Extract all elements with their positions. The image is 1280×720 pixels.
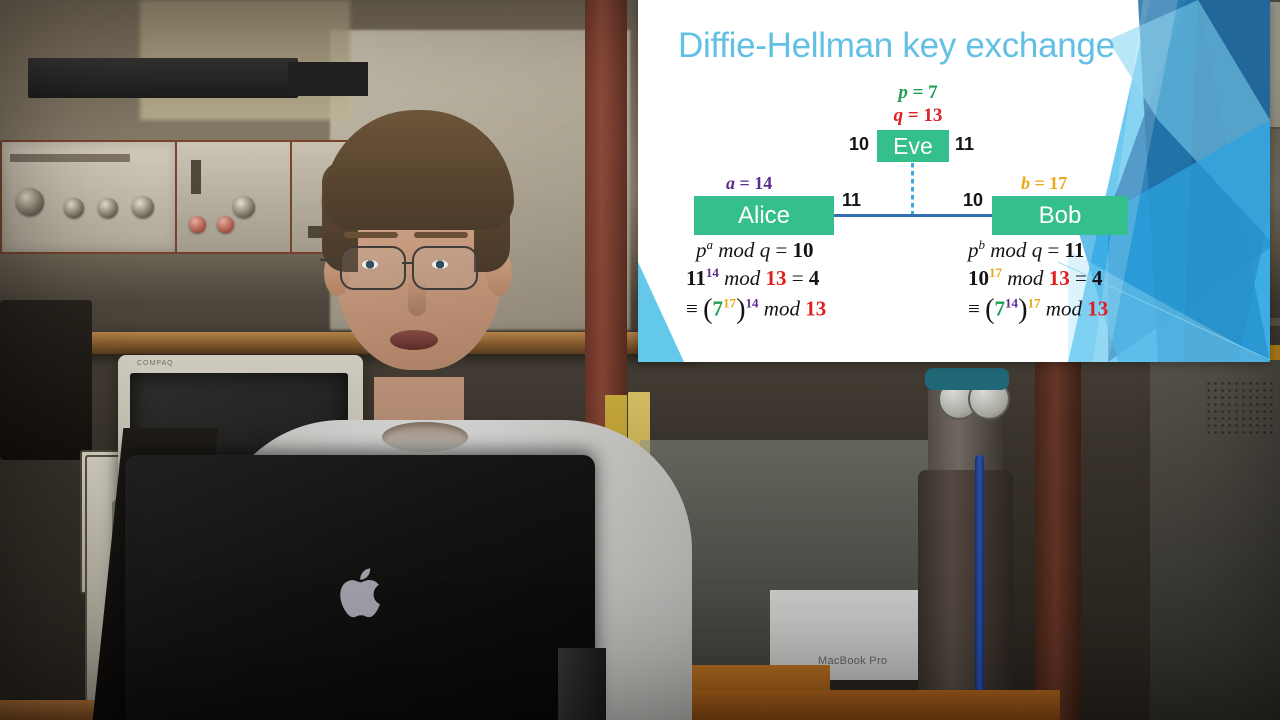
alice-f2-result: 4 [809, 266, 820, 290]
bob-f1-q: q [1032, 238, 1043, 262]
private-key-b: b = 17 [1021, 173, 1067, 194]
private-key-a: a = 14 [726, 173, 772, 194]
parameter-p-symbol: p [898, 82, 908, 103]
bob-f2-eq: = [1075, 266, 1087, 290]
presentation-slide-overlay: Diffie-Hellman key exchange p = 7 q = 13… [638, 0, 1270, 362]
video-frame: COMPAQ MacBook Pro [0, 0, 1280, 720]
private-key-a-equals: = [740, 173, 750, 193]
bob-formula-line-3: ≡ (714)17 mod 13 [968, 294, 1108, 326]
cabinet-post-right [1035, 360, 1081, 720]
alice-formula-line-2: 1114 mod 13 = 4 [686, 266, 819, 291]
blue-hose [975, 455, 984, 720]
bob-f2-base: 10 [968, 266, 989, 290]
speaker-grille [1205, 380, 1275, 435]
alice-f2-modulus: 13 [766, 266, 787, 290]
alice-f3-inner-exp: 17 [723, 296, 736, 311]
private-key-b-value: 17 [1049, 173, 1067, 193]
gas-cylinder [918, 470, 1013, 720]
alice-f2-eq: = [792, 266, 804, 290]
bob-f2-result: 4 [1092, 266, 1103, 290]
workbench-edge [640, 690, 1060, 720]
alice-formula-line-3: ≡ (717)14 mod 13 [686, 294, 826, 326]
alice-f3-outer-exp: 14 [746, 296, 759, 311]
private-key-a-value: 14 [754, 173, 772, 193]
eyebrow-left [344, 232, 398, 238]
eve-left-number: 10 [849, 134, 869, 155]
shirt-collar [382, 422, 468, 452]
private-key-b-symbol: b [1021, 173, 1030, 193]
alice-f3-modulus: 13 [805, 297, 826, 321]
eye-right [432, 260, 448, 269]
alice-f3-inner-base: 7 [713, 297, 724, 321]
bob-f1-eq: = [1047, 238, 1059, 262]
alice-f1-exp: a [707, 237, 714, 252]
bob-formula-line-1: pb mod q = 11 [968, 238, 1084, 263]
alice-f1-eq: = [775, 238, 787, 262]
bob-f2-exp: 17 [989, 265, 1002, 280]
eve-right-number: 11 [955, 134, 974, 155]
eyeglass-bridge [402, 262, 414, 264]
parameter-q-value: 13 [923, 105, 942, 126]
monitor-brand-label: COMPAQ [137, 360, 174, 367]
parameter-p-value: 7 [928, 82, 938, 103]
black-equipment-box-2 [288, 62, 368, 96]
lab-instrument-left [0, 140, 179, 254]
bob-f3-inner-base: 7 [995, 297, 1006, 321]
bob-f3-inner-exp: 14 [1005, 296, 1018, 311]
alice-f1-base: p [696, 238, 707, 262]
bob-f1-base: p [968, 238, 979, 262]
bob-formula-line-2: 1017 mod 13 = 4 [968, 266, 1103, 291]
apple-logo-icon [340, 565, 388, 621]
alice-f1-q: q [760, 238, 771, 262]
eve-intercept-dotted-line [911, 163, 914, 215]
alice-bob-channel [834, 214, 992, 217]
dark-equipment-mass [0, 300, 92, 460]
alice-f2-exp: 14 [706, 265, 719, 280]
hair [324, 110, 514, 230]
parameter-q: q = 13 [853, 105, 983, 127]
macbook-edge [558, 648, 606, 720]
slide-title: Diffie-Hellman key exchange [678, 28, 1115, 63]
node-eve[interactable]: Eve [877, 130, 949, 162]
tank-handle [925, 368, 1009, 390]
bob-f2-mod: mod [1007, 266, 1043, 290]
parameter-p-equals: = [913, 82, 924, 103]
bob-f1-exp: b [979, 237, 986, 252]
alice-side-number: 11 [842, 190, 861, 211]
bob-f1-result: 11 [1065, 238, 1085, 262]
alice-f1-result: 10 [793, 238, 814, 262]
bob-f3-mod: mod [1046, 297, 1082, 321]
bob-f3-modulus: 13 [1087, 297, 1108, 321]
alice-f3-mod: mod [764, 297, 800, 321]
node-alice[interactable]: Alice [694, 196, 834, 235]
alice-f2-mod: mod [724, 266, 760, 290]
alice-formula-line-1: pa mod q = 10 [696, 238, 814, 263]
bob-f2-modulus: 13 [1049, 266, 1070, 290]
nose [408, 278, 426, 316]
private-key-b-equals: = [1035, 173, 1045, 193]
bob-side-number: 10 [963, 190, 983, 211]
node-bob[interactable]: Bob [992, 196, 1128, 235]
private-key-a-symbol: a [726, 173, 735, 193]
black-equipment-box [28, 58, 298, 98]
mouth [390, 330, 438, 350]
alice-f1-mod: mod [718, 238, 754, 262]
bob-f3-outer-exp: 17 [1028, 296, 1041, 311]
parameter-q-symbol: q [894, 105, 904, 126]
eye-left [362, 260, 378, 269]
bob-f1-mod: mod [990, 238, 1026, 262]
alice-f2-base: 11 [686, 266, 706, 290]
parameter-q-equals: = [908, 105, 919, 126]
alice-f3-equiv: ≡ [686, 297, 698, 321]
eyebrow-right [414, 232, 468, 238]
bob-f3-equiv: ≡ [968, 297, 980, 321]
parameter-p: p = 7 [853, 82, 983, 104]
